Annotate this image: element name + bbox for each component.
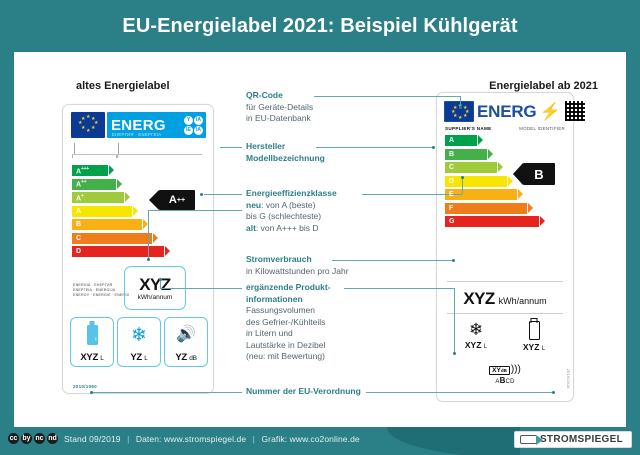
class-bar: A+++ (72, 165, 190, 176)
eu-flag-icon: ★★ ★★ ★★ ★★ (444, 101, 474, 122)
old-label-class-bars: A+++ A++ A+ A B C D (72, 165, 190, 260)
class-bar: D (72, 246, 190, 257)
old-noise-unit: dB (189, 355, 196, 362)
new-freezer-unit: L (484, 344, 487, 350)
old-energy-label: ★★ ★★ ★★ ★★ ENERG ЕНЕРГИЯ · ΕΝΕΡΓΕΙΑ Y I… (62, 104, 214, 394)
old-fridge-unit: L (100, 355, 103, 362)
connector-class-left (204, 194, 242, 195)
annotation-efficiency-class: Energieeffizienzklasse neu: neu: von A (… (246, 188, 366, 234)
lang-circle-1: Y (184, 116, 193, 125)
annotation-line: des Gefrier-/Kühlteils (246, 317, 325, 327)
diagram-canvas: altes Energielabel Energielabel ab 2021 … (14, 52, 626, 427)
plug-icon (520, 435, 536, 444)
class-bar: B (72, 219, 190, 230)
old-consumption-value: XYZ (139, 275, 171, 295)
annotation-manufacturer: Hersteller Modellbezeichnung (246, 141, 362, 164)
connector-consumption-left (148, 210, 242, 211)
annotation-qr-code: QR-Code für Geräte-Details in EU-Datenba… (246, 90, 362, 125)
new-icon-fridge-volume: XYZ L (523, 321, 545, 352)
annotation-line: (neu: mit Bewertung) (246, 351, 325, 361)
connector-regulation-left (92, 392, 242, 393)
old-label-energ-sub: ЕНЕРГИЯ · ΕΝΕΡΓΕΙΑ (112, 132, 161, 137)
old-icon-freezer-volume: ❄ YZ L (117, 317, 161, 367)
old-freezer-unit: L (144, 355, 147, 362)
old-freezer-value: YZ (130, 352, 142, 363)
new-label-energ-word: ENERG (477, 103, 536, 120)
new-label-noise-block: XYdB ))) ABCD (437, 365, 573, 385)
caption-new-label: Energielabel ab 2021 (489, 80, 598, 92)
class-bar: C (72, 233, 190, 244)
annotation-title: Nummer der EU-Verordnung (246, 386, 376, 398)
old-label-regulation-number: 2010/1060 (73, 384, 97, 389)
new-label-noise-scale: ABCD (495, 376, 514, 385)
old-label-language-circles: Y IA IE IA (184, 116, 203, 135)
class-bar: A (445, 135, 553, 146)
new-freezer-value: XYZ (465, 340, 482, 350)
cc-by-icon: by (21, 433, 32, 444)
old-noise-value: YZ (175, 352, 187, 363)
new-noise-value: XY (492, 367, 501, 374)
selected-class-sup: ++ (177, 197, 185, 204)
annotation-power-consumption: Stromverbrauch in Kilowattstunden pro Ja… (246, 254, 376, 277)
snowflake-icon: ❄ (469, 321, 483, 338)
footer-data-source[interactable]: Daten: www.stromspiegel.de (136, 434, 246, 444)
speaker-icon: 🔊 (176, 318, 196, 352)
class-bar: B (445, 149, 553, 160)
model-identifier: MODEL IDENTIFIER (519, 126, 565, 131)
header: EU-Energielabel 2021: Beispiel Kühlgerät (0, 0, 640, 52)
cc-icon: cc (8, 433, 19, 444)
old-label-energ-word: ENERG (107, 118, 166, 133)
lang-circle-3: IE (184, 126, 193, 135)
old-label-energ-banner: ★★ ★★ ★★ ★★ ENERG ЕНЕРГИЯ · ΕΝΕΡΓΕΙΑ Y I… (71, 112, 206, 138)
annotation-title-2: informationen (246, 294, 366, 306)
eu-flag-icon: ★★ ★★ ★★ ★★ (71, 112, 105, 138)
annotation-product-info: ergänzende Produkt- informationen Fassun… (246, 282, 366, 363)
footer: cc by nc nd Stand 09/2019 | Daten: www.s… (0, 427, 640, 455)
new-icon-freezer-volume: ❄ XYZ L (465, 321, 487, 352)
cc-nc-icon: nc (34, 433, 45, 444)
tick-label-1: I (72, 154, 73, 159)
lang-circle-4: IA (194, 126, 203, 135)
footer-date: Stand 09/2019 (64, 434, 121, 444)
new-label-icon-row: ❄ XYZ L XYZ L (447, 321, 563, 352)
snowflake-icon: ❄ (131, 318, 147, 352)
annotation-title: QR-Code (246, 90, 362, 102)
brand-name: STROMSPIEGEL (540, 434, 623, 445)
new-label-supplier-row: SUPPLIER'S NAME MODEL IDENTIFIER (445, 126, 565, 131)
connector-product-info-left (160, 288, 242, 289)
qr-code-icon (564, 100, 586, 122)
annotation-title: Stromverbrauch (246, 254, 376, 266)
old-label-multilingual-text: ENERGIA · ЕНЕРГИЯΕΝΕΡΓΕΙΑ · ENERGIJAENER… (73, 283, 129, 298)
old-label-tick-row: I II (72, 143, 202, 157)
annotation-line: in EU-Datenbank (246, 113, 311, 123)
class-bar: F (445, 203, 553, 214)
annotation-title: ergänzende Produkt- (246, 282, 366, 294)
new-fridge-unit: L (542, 346, 545, 352)
new-label-side-code: 2019/2016 (566, 369, 570, 389)
new-energy-label: ★★ ★★ ★★ ★★ ENERG ⚡ SUPPLIER'S NAME MODE… (436, 92, 574, 402)
footer-separator: | (249, 434, 259, 444)
lang-circle-2: IA (194, 116, 203, 125)
class-bar: G (445, 216, 553, 227)
old-icon-fridge-volume: l XYZ L (70, 317, 114, 367)
cc-nd-icon: nd (47, 433, 58, 444)
supplier-name: SUPPLIER'S NAME (445, 126, 491, 131)
new-consumption-value: XYZ (463, 289, 494, 309)
selected-class-letter: A (169, 194, 177, 206)
old-consumption-unit: kWh/annum (138, 294, 173, 301)
old-fridge-value: XYZ (80, 352, 98, 363)
new-label-selected-class: B (523, 163, 555, 185)
old-label-selected-class: A++ (159, 190, 195, 210)
class-bar: A++ (72, 179, 190, 190)
footer-left: cc by nc nd Stand 09/2019 | Daten: www.s… (8, 433, 360, 444)
old-icon-noise-level: 🔊 YZ dB (164, 317, 208, 367)
speaker-icon: XYdB ))) (489, 365, 521, 375)
annotation-line: in Kilowattstunden pro Jahr (246, 266, 349, 276)
connector-manufacturer-left (220, 147, 242, 148)
new-noise-unit: dB (501, 368, 507, 373)
new-label-energ-banner: ★★ ★★ ★★ ★★ ENERG ⚡ (444, 99, 566, 123)
creative-commons-icons: cc by nc nd (8, 433, 58, 444)
old-label-icon-row: l XYZ L ❄ YZ L 🔊 YZ dB (70, 317, 208, 367)
new-consumption-unit: kWh/annum (499, 296, 547, 306)
new-label-consumption: XYZ kWh/annum (447, 289, 563, 309)
old-label-energ-band: ENERG ЕНЕРГИЯ · ΕΝΕΡΓΕΙΑ Y IA IE IA (107, 112, 206, 138)
annotation-line: Lautstärke in Dezibel (246, 340, 325, 350)
tick-label-2: II (116, 154, 119, 159)
new-fridge-value: XYZ (523, 342, 540, 352)
annotation-regulation-number: Nummer der EU-Verordnung (246, 386, 376, 398)
page-title: EU-Energielabel 2021: Beispiel Kühlgerät (122, 15, 517, 38)
brand-logo: STROMSPIEGEL (514, 431, 632, 448)
infographic-page: EU-Energielabel 2021: Beispiel Kühlgerät… (0, 0, 640, 455)
lightning-bolt-icon: ⚡ (539, 103, 560, 120)
caption-old-label: altes Energielabel (76, 80, 170, 92)
noise-scale-selected: B (500, 376, 506, 385)
annotation-title: Energieeffizienzklasse (246, 188, 366, 200)
bottle-icon: l (87, 318, 98, 352)
annotation-line: für Geräte-Details (246, 102, 313, 112)
footer-graphic-source[interactable]: Grafik: www.co2online.de (261, 434, 359, 444)
footer-separator: | (123, 434, 133, 444)
annotation-line: Fassungsvolumen (246, 305, 315, 315)
footer-credits: Stand 09/2019 | Daten: www.stromspiegel.… (64, 434, 360, 444)
bottle-icon (529, 321, 540, 340)
annotation-title: Hersteller (246, 141, 362, 153)
connector-regulation-right (366, 392, 554, 393)
annotation-title-2: Modellbezeichnung (246, 153, 362, 165)
annotation-line: in Litern und (246, 328, 293, 338)
